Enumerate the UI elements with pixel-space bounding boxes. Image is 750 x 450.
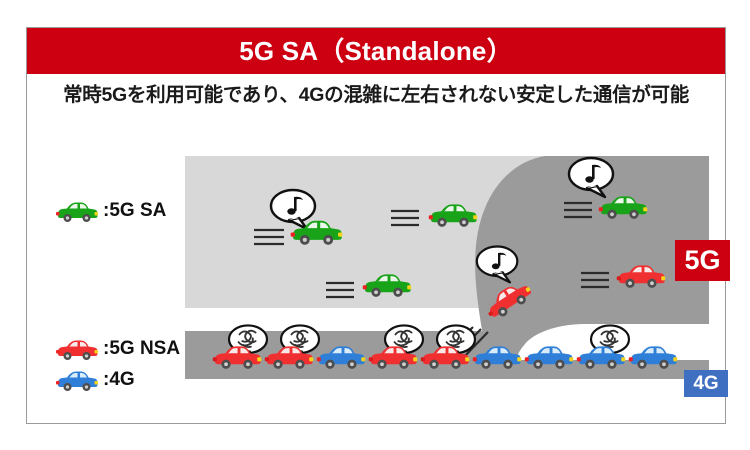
car-upper-5 bbox=[615, 259, 667, 289]
car-lower-8 bbox=[575, 340, 627, 370]
badge-4g: 4G bbox=[684, 370, 728, 397]
subtitle-row: 常時5Gを利用可能であり、4Gの混雑に左右されない安定した通信が可能 bbox=[27, 74, 725, 118]
car-icon bbox=[55, 366, 99, 392]
car-lower-9 bbox=[627, 340, 679, 370]
legend-item-5g-sa: :5G SA bbox=[55, 195, 166, 225]
car-lower-4 bbox=[367, 340, 419, 370]
badge-5g-label: 5G bbox=[684, 247, 720, 274]
car-lower-6 bbox=[471, 340, 523, 370]
subtitle-text: 常時5Gを利用可能であり、4Gの混雑に左右されない安定した通信が可能 bbox=[63, 86, 689, 106]
diagram-scene: 5G 4G bbox=[185, 148, 727, 418]
car-lower-3 bbox=[315, 340, 367, 370]
slide-card: 5G SA（Standalone） 常時5Gを利用可能であり、4Gの混雑に左右さ… bbox=[26, 27, 726, 424]
page-title: 5G SA（Standalone） bbox=[239, 38, 513, 64]
car-upper-1 bbox=[289, 214, 344, 246]
car-icon bbox=[55, 197, 99, 223]
speed-lines bbox=[325, 280, 357, 300]
legend-label-5g-sa: :5G SA bbox=[103, 201, 166, 220]
badge-4g-label: 4G bbox=[693, 374, 718, 393]
speed-lines bbox=[580, 270, 612, 290]
car-lower-1 bbox=[211, 340, 263, 370]
car-icon bbox=[55, 335, 99, 361]
car-upper-2 bbox=[427, 198, 479, 228]
car-lower-5 bbox=[419, 340, 471, 370]
car-upper-4 bbox=[597, 190, 649, 220]
car-lower-2 bbox=[263, 340, 315, 370]
legend-label-4g: :4G bbox=[103, 370, 135, 389]
legend-item-4g: :4G bbox=[55, 364, 135, 394]
car-upper-3 bbox=[361, 268, 413, 298]
speed-lines bbox=[563, 200, 595, 220]
slide-root: 5G SA（Standalone） 常時5Gを利用可能であり、4Gの混雑に左右さ… bbox=[0, 0, 750, 450]
title-bar: 5G SA（Standalone） bbox=[27, 28, 725, 74]
speed-lines bbox=[390, 208, 422, 228]
legend-label-5g-nsa: :5G NSA bbox=[103, 339, 180, 358]
badge-5g: 5G bbox=[675, 240, 730, 281]
legend-item-5g-nsa: :5G NSA bbox=[55, 333, 180, 363]
car-lower-7 bbox=[523, 340, 575, 370]
